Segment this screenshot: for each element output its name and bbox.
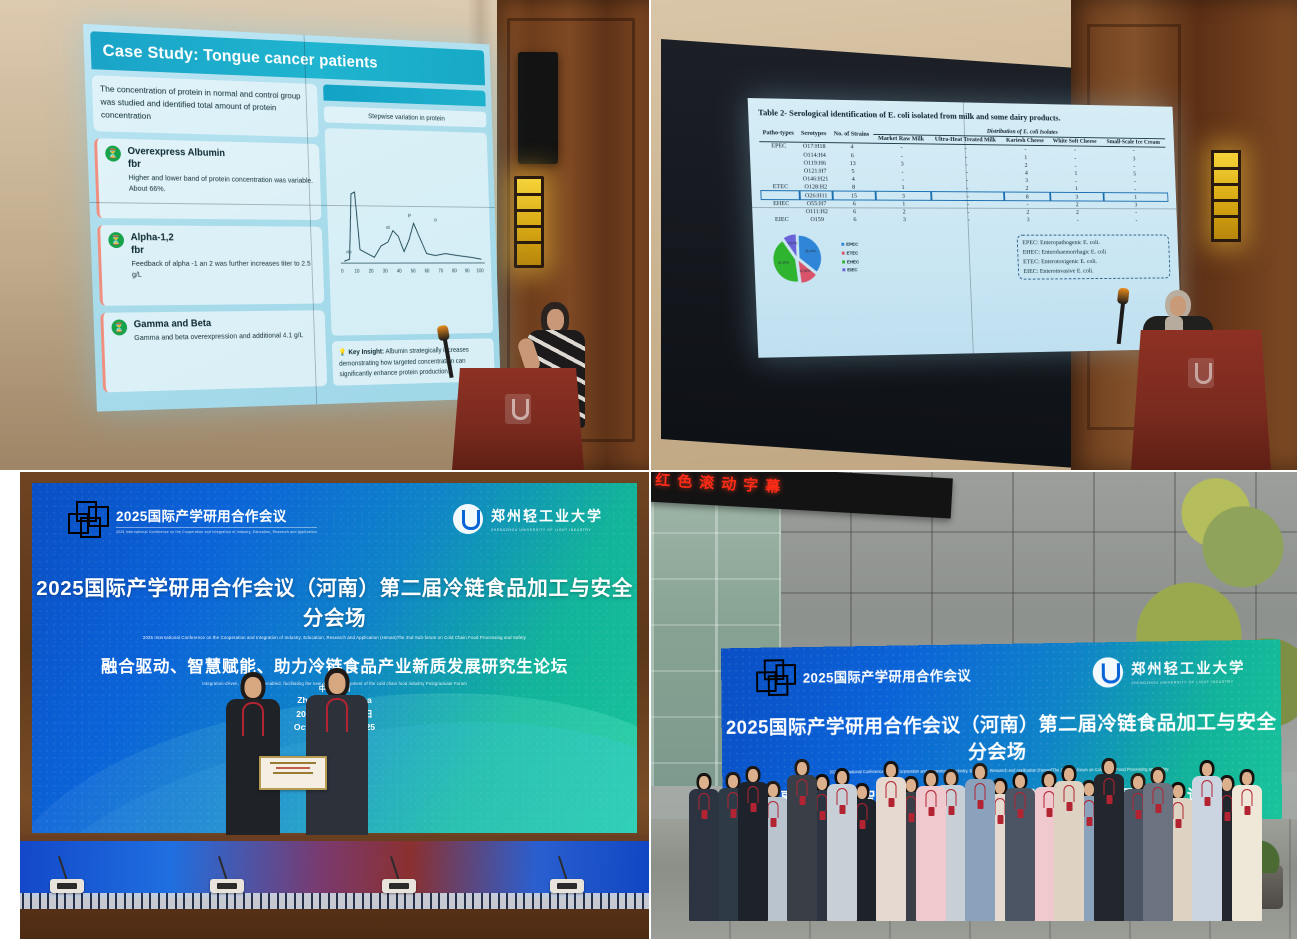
- attendee: [914, 770, 948, 921]
- point-detail: Gamma and beta overexpression and additi…: [134, 330, 303, 343]
- cell-distribution-3: 2: [1050, 201, 1103, 209]
- attendee: [1003, 772, 1037, 921]
- attendee: [1230, 769, 1264, 921]
- cell-distribution-0: 3: [876, 216, 932, 224]
- cell-strains: 8: [832, 183, 876, 191]
- lanyard-badge: [1104, 778, 1115, 795]
- legend-item: EHEC: [842, 258, 859, 267]
- cell-serotype: O26:H11: [800, 191, 833, 199]
- desk-microphone: [550, 877, 584, 893]
- attendee: [1141, 767, 1175, 921]
- attendee: [1052, 765, 1086, 921]
- cell-serotype: O146:H21: [799, 175, 832, 183]
- svg-text:α2: α2: [386, 225, 391, 230]
- cell-distribution-3: 3: [1050, 193, 1103, 201]
- person-face: [926, 773, 936, 786]
- attendee: [825, 768, 859, 921]
- cell-serotype: O128:H2: [800, 183, 833, 191]
- cell-serotype: O17:H18: [798, 142, 831, 151]
- abbreviation-key-box: EPEC: Enteropathogenic E. coli. EHEC: En…: [1017, 234, 1171, 280]
- col-strains: No. of Strains: [829, 125, 873, 143]
- lanyard-badge: [797, 779, 808, 796]
- legend-item: EPEC: [841, 241, 858, 250]
- cell-distribution-0: 1: [876, 200, 932, 208]
- svg-text:σ: σ: [434, 218, 438, 224]
- person-face: [1104, 761, 1114, 774]
- person-face: [886, 764, 896, 777]
- lectern: [1131, 330, 1271, 470]
- person-face: [699, 776, 709, 789]
- point-subheading: fbr: [131, 245, 316, 256]
- table-body: EPECO17:H184-----O114:H46--1-3O119:H6133…: [759, 141, 1168, 223]
- cell-distribution-0: 2: [876, 208, 932, 216]
- person-face: [797, 762, 807, 775]
- cell-distribution-3: -: [1051, 216, 1104, 224]
- ecoli-serotype-table: Patho-types Serotypes No. of Strains Dis…: [759, 124, 1169, 224]
- legend-item: EIEC: [842, 267, 859, 276]
- banner-top-row: 2025国际产学研用合作会议 2025 International Confer…: [32, 501, 637, 537]
- cell-pathotype: ETEC: [761, 183, 800, 191]
- point-detail: Feedback of alpha -1 an 2 was further in…: [131, 259, 316, 280]
- person-face: [837, 771, 847, 784]
- slide-left-column: The concentration of protein in normal a…: [92, 75, 328, 392]
- attendee-group: [679, 671, 1279, 921]
- legend-label-etec: ETEC: [846, 251, 858, 256]
- cell-serotype: O119:H6: [799, 159, 832, 167]
- cell-serotype: O159: [801, 216, 834, 224]
- cell-pathotype: [761, 191, 800, 199]
- hourglass-icon: ⏳: [111, 319, 127, 335]
- panel-group-photo: 红色滚动字幕 2025国际产学研用合作会议 郑州轻工业大学 ZHENGZHOU …: [651, 472, 1297, 939]
- person-face: [1064, 768, 1074, 781]
- university-name-cn: 郑州轻工业大学: [491, 506, 603, 526]
- projection-screen-slide-1: Case Study: Tongue cancer patients The c…: [83, 24, 501, 412]
- protein-chromatogram-plot: 01020 304050 607080 90100 Alb α2 P σ: [325, 128, 493, 336]
- lightbulb-icon: 💡: [339, 348, 347, 357]
- banner-headline-cn: 2025国际产学研用合作会议（河南）第二届冷链食品加工与安全分会场: [32, 571, 637, 631]
- cell-serotype: O55:H7: [800, 199, 833, 207]
- cell-strains: 15: [832, 191, 876, 199]
- pie-chart-svg: 35.94%12.50%42.19%9.37%: [763, 228, 838, 290]
- cell-pathotype: [761, 175, 800, 183]
- conference-logo-icon: [66, 501, 110, 537]
- point-subheading: fbr: [128, 159, 313, 174]
- cell-strains: 6: [833, 216, 877, 224]
- person-face: [975, 766, 985, 779]
- award-certificate: [259, 756, 327, 790]
- svg-text:40: 40: [397, 269, 402, 275]
- slide-body: The concentration of protein in normal a…: [92, 75, 495, 392]
- photo-collage: Case Study: Tongue cancer patients The c…: [0, 0, 1297, 939]
- conference-name-cn: 2025国际产学研用合作会议: [116, 505, 317, 525]
- attendee: [785, 759, 819, 921]
- svg-text:20: 20: [369, 269, 374, 275]
- cell-distribution-4: -: [1104, 216, 1168, 224]
- desk-microphone: [210, 877, 244, 893]
- conference-wordmark: 2025国际产学研用合作会议 2025 International Confer…: [116, 505, 317, 534]
- cell-strains: 4: [831, 175, 875, 183]
- presenter-face: [1170, 296, 1186, 316]
- cell-serotype: O114:H4: [798, 151, 831, 159]
- pie-chart-area: 35.94%12.50%42.19%9.37% EPEC ETEC EHEC E…: [763, 228, 1171, 290]
- presenter-face: [547, 309, 564, 331]
- cell-serotype: O121:H7: [799, 167, 832, 175]
- cell-strains: 6: [833, 208, 877, 216]
- svg-text:Alb: Alb: [346, 250, 352, 255]
- lanyard-badge: [1153, 787, 1164, 804]
- table-row: EIECO15963-3--: [762, 216, 1168, 224]
- cell-distribution-4: -: [1104, 208, 1168, 216]
- banner-headline-en: 2025 International Conference on the Coo…: [32, 635, 637, 640]
- lanyard-badge: [242, 702, 264, 736]
- point-heading: Gamma and Beta: [134, 317, 303, 330]
- cell-strains: 6: [832, 200, 876, 208]
- svg-text:70: 70: [439, 269, 444, 275]
- lanyard-badge: [837, 788, 848, 805]
- lanyard-badge: [926, 790, 937, 807]
- panel-award-ceremony: 2025国际产学研用合作会议 2025 International Confer…: [20, 472, 649, 939]
- chart-caption: Stepwise variation in protein: [324, 106, 486, 127]
- svg-text:10: 10: [355, 269, 360, 275]
- abbr-epec: EPEC: Enteropathogenic E. coli.: [1022, 238, 1164, 248]
- slide-right-column: Stepwise variation in protein 01020 3040…: [323, 84, 494, 385]
- cell-distribution-3: 2: [1051, 208, 1104, 216]
- lanyard-badge: [1064, 785, 1075, 802]
- svg-text:P: P: [408, 214, 412, 220]
- person-face: [245, 677, 262, 698]
- cell-distribution-1: -: [932, 208, 1005, 216]
- cell-pathotype: [762, 207, 801, 215]
- svg-text:60: 60: [425, 269, 430, 275]
- person-face: [1242, 772, 1252, 785]
- svg-text:80: 80: [452, 269, 457, 275]
- cell-distribution-0: 3: [875, 192, 931, 200]
- insight-label: Key Insight:: [348, 347, 384, 356]
- col-pathotypes: Patho-types: [759, 124, 798, 142]
- attendee: [963, 763, 997, 921]
- lanyard-badge: [1015, 792, 1026, 809]
- pie-chart-legend: EPEC ETEC EHEC EIEC: [841, 241, 859, 275]
- slide-point-alpha-1-2: ⏳ Alpha-1,2 fbr Feedback of alpha -1 an …: [97, 225, 325, 305]
- legend-label-epec: EPEC: [846, 242, 858, 247]
- cell-distribution-1: -: [931, 200, 1004, 208]
- slide-point-gamma-beta: ⏳ Gamma and Beta Gamma and beta overexpr…: [100, 310, 327, 393]
- cell-distribution-2: 2: [1005, 208, 1051, 216]
- point-heading: Alpha-1,2: [130, 233, 315, 245]
- greek-key-trim: [20, 893, 649, 909]
- legend-label-ehec: EHEC: [847, 259, 859, 264]
- ecoli-pie-chart: 35.94%12.50%42.19%9.37%: [763, 228, 838, 290]
- projection-screen-slide-2: Table 2- Serological identification of E…: [748, 98, 1182, 358]
- university-name-en: ZHENGZHOU UNIVERSITY OF LIGHT INDUSTRY: [491, 528, 603, 532]
- person-face: [1015, 775, 1025, 788]
- svg-text:0: 0: [341, 269, 344, 275]
- pie-label-etec: 12.50%: [799, 269, 810, 273]
- panel-lecture-ecoli-table: Table 2- Serological identification of E…: [651, 0, 1297, 470]
- person-face: [748, 769, 758, 782]
- hourglass-icon: ⏳: [108, 232, 124, 248]
- attendee: [1190, 760, 1224, 921]
- wall-lamp: [514, 176, 544, 268]
- attendee: [687, 773, 721, 921]
- hourglass-icon: ⏳: [105, 145, 121, 161]
- slide-point-overexpress-albumin: ⏳ Overexpress Albumin fbr Higher and low…: [94, 138, 322, 220]
- cell-distribution-2: 3: [1005, 216, 1051, 224]
- university-wordmark: 郑州轻工业大学 ZHENGZHOU UNIVERSITY OF LIGHT IN…: [453, 504, 603, 534]
- award-presentation-group: [203, 668, 399, 848]
- person-face: [1153, 770, 1163, 783]
- ceiling-speaker: [518, 52, 558, 164]
- svg-text:90: 90: [465, 269, 470, 275]
- svg-text:50: 50: [411, 269, 416, 275]
- attendee: [736, 766, 770, 921]
- svg-text:30: 30: [383, 269, 388, 275]
- lanyard-badge: [699, 793, 710, 810]
- conference-desk: [20, 835, 649, 939]
- abbr-eiec: EIEC: Enteroinvasive E. coli.: [1023, 266, 1165, 276]
- led-ticker-text: 红色滚动字幕: [655, 472, 788, 497]
- lanyard-badge: [1242, 789, 1253, 806]
- cell-pathotype: [760, 167, 799, 175]
- lanyard-badge: [975, 783, 986, 800]
- table-caption: Table 2- Serological identification of E…: [758, 106, 1165, 125]
- slide-intro-text: The concentration of protein in normal a…: [92, 75, 319, 137]
- university-emblem-icon: [453, 504, 483, 534]
- cell-pathotype: EHEC: [762, 199, 801, 207]
- desk-microphone: [50, 877, 84, 893]
- col-serotypes: Serotypes: [797, 124, 830, 142]
- wall-lamp: [1211, 150, 1241, 242]
- attendee: [874, 761, 908, 921]
- chromatogram-svg: 01020 304050 607080 90100 Alb α2 P σ: [328, 131, 491, 333]
- cell-distribution-4: 3: [1103, 201, 1167, 209]
- panel-lecture-tongue-cancer: Case Study: Tongue cancer patients The c…: [0, 0, 649, 470]
- university-emblem-icon: [1188, 358, 1214, 388]
- attendee: [1092, 758, 1126, 921]
- person-face: [1202, 763, 1212, 776]
- pie-label-ehec: 42.19%: [778, 261, 789, 265]
- person-face: [329, 673, 346, 694]
- conference-name-en: 2025 International Conference on the Coo…: [116, 527, 317, 534]
- university-emblem-icon: [505, 394, 531, 424]
- pie-label-epec: 35.94%: [805, 249, 816, 253]
- legend-item: ETEC: [842, 250, 859, 259]
- lanyard-badge: [1202, 780, 1213, 797]
- svg-text:100: 100: [477, 269, 484, 275]
- cell-distribution-1: -: [932, 216, 1005, 224]
- cell-distribution-2: 8: [1004, 192, 1050, 200]
- lectern: [452, 368, 584, 470]
- legend-label-eiec: EIEC: [847, 268, 857, 273]
- cell-pathotype: EIEC: [762, 216, 801, 224]
- point-detail: Higher and lower band of protein concent…: [128, 173, 314, 197]
- chart-header-bar: [323, 84, 485, 106]
- desk-microphone: [382, 877, 416, 893]
- lanyard-badge: [886, 781, 897, 798]
- lanyard-badge: [326, 698, 348, 732]
- pie-label-eiec: 9.37%: [788, 241, 798, 245]
- cell-distribution-2: -: [1004, 200, 1050, 208]
- cell-serotype: O111:H2: [801, 208, 834, 216]
- lanyard-badge: [748, 786, 759, 803]
